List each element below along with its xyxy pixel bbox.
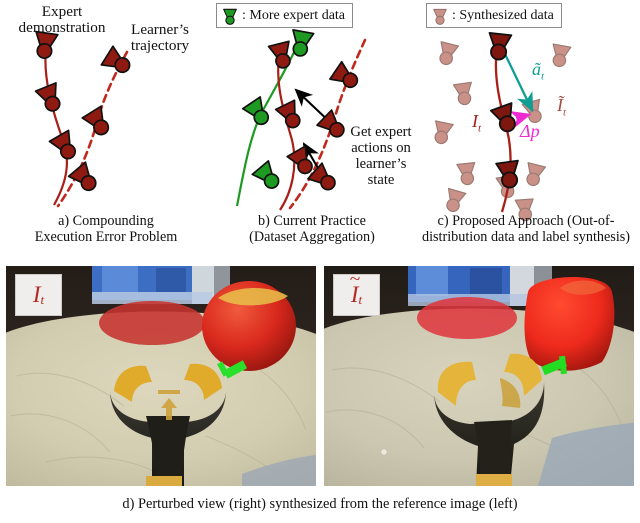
synthesized-pose-marker bbox=[436, 42, 459, 67]
panel-b-caption-line1: b) Current Practice bbox=[212, 214, 412, 230]
synthesized-action-arrow bbox=[504, 52, 532, 110]
diagram-row: Expert demonstration Learner’s trajector… bbox=[0, 0, 640, 258]
figure-root: Expert demonstration Learner’s trajector… bbox=[0, 0, 640, 523]
synthesized-image-tag-symbol: I bbox=[351, 282, 359, 307]
panel-b-annotation-line2: actions on bbox=[342, 140, 420, 156]
panel-a-caption-line1: a) Compounding bbox=[0, 214, 212, 230]
label-delta-p: Δp bbox=[520, 122, 540, 141]
learner-pose-marker bbox=[69, 162, 102, 195]
panel-c-caption-line1: c) Proposed Approach (Out-of- bbox=[412, 214, 640, 230]
reference-image-tag-sub: t bbox=[41, 292, 45, 307]
reference-image-tag: It bbox=[15, 274, 62, 316]
panel-a-caption-line2: Execution Error Problem bbox=[0, 230, 212, 246]
label-action-a-tilde: ãt bbox=[532, 60, 544, 83]
panel-c-caption-line2: distribution data and label synthesis) bbox=[412, 230, 640, 246]
learner-pose-marker bbox=[101, 46, 134, 78]
panel-b-caption-line2: (Dataset Aggregation) bbox=[212, 230, 412, 246]
panel-b-annotation-line3: learner’s bbox=[342, 156, 420, 172]
reference-pose-marker-It bbox=[491, 103, 520, 135]
synthesized-image-tag: It bbox=[333, 274, 380, 316]
panel-b-caption: b) Current Practice (Dataset Aggregation… bbox=[212, 214, 412, 246]
reference-pose-marker bbox=[487, 33, 512, 61]
synthesized-data-markers bbox=[431, 42, 571, 222]
synthesized-image-tag-sub: t bbox=[359, 292, 363, 307]
expert-pose-marker bbox=[36, 83, 66, 115]
expert-pose-marker bbox=[33, 32, 58, 60]
synthesized-pose-marker bbox=[523, 163, 546, 188]
expert-pose-marker bbox=[269, 41, 295, 70]
synthesized-pose-marker bbox=[453, 82, 474, 105]
learner-pose-marker bbox=[82, 106, 114, 139]
label-I-t: It bbox=[472, 112, 481, 135]
label-action-a-tilde-sub: t bbox=[541, 71, 544, 83]
synthesized-pose-marker bbox=[549, 44, 570, 68]
panel-b-annotation-line1: Get expert bbox=[342, 124, 420, 140]
synthesized-pose-marker bbox=[457, 163, 477, 186]
more-expert-pose-marker bbox=[243, 97, 274, 129]
panel-c-proposed-approach: : Synthesized data bbox=[412, 0, 640, 258]
photo-row: It bbox=[0, 266, 640, 488]
panel-a-caption: a) Compounding Execution Error Problem bbox=[0, 214, 212, 246]
panel-b-annotation: Get expert actions on learner’s state bbox=[342, 124, 420, 188]
panel-b-annotation-line4: state bbox=[342, 172, 420, 188]
more-expert-pose-marker bbox=[252, 161, 284, 193]
label-I-t-sub: t bbox=[478, 123, 481, 135]
label-action-a-tilde-symbol: ã bbox=[532, 59, 541, 79]
expert-trajectory-curve bbox=[278, 50, 294, 210]
label-delta-p-symbol: Δp bbox=[520, 121, 540, 141]
label-I-tilde-t-sub: t bbox=[563, 107, 566, 119]
label-I-tilde-t: Ĩt bbox=[557, 96, 566, 119]
figure-caption-d: d) Perturbed view (right) synthesized fr… bbox=[0, 496, 640, 513]
synthesized-pose-marker bbox=[431, 121, 453, 145]
learner-pose-marker bbox=[308, 163, 340, 195]
synthesized-image-photo: It bbox=[324, 266, 634, 486]
panel-a-compounding-error: Expert demonstration Learner’s trajector… bbox=[0, 0, 212, 258]
expert-pose-marker bbox=[276, 100, 306, 131]
panel-c-caption: c) Proposed Approach (Out-of- distributi… bbox=[412, 214, 640, 246]
expert-trajectory-curve bbox=[45, 48, 67, 205]
expert-pose-marker bbox=[49, 130, 81, 163]
synthesized-pose-marker bbox=[443, 188, 466, 213]
panel-b-current-practice: : More expert data bbox=[212, 0, 412, 258]
reference-image-photo: It bbox=[6, 266, 316, 486]
reference-image-tag-symbol: I bbox=[33, 282, 41, 307]
